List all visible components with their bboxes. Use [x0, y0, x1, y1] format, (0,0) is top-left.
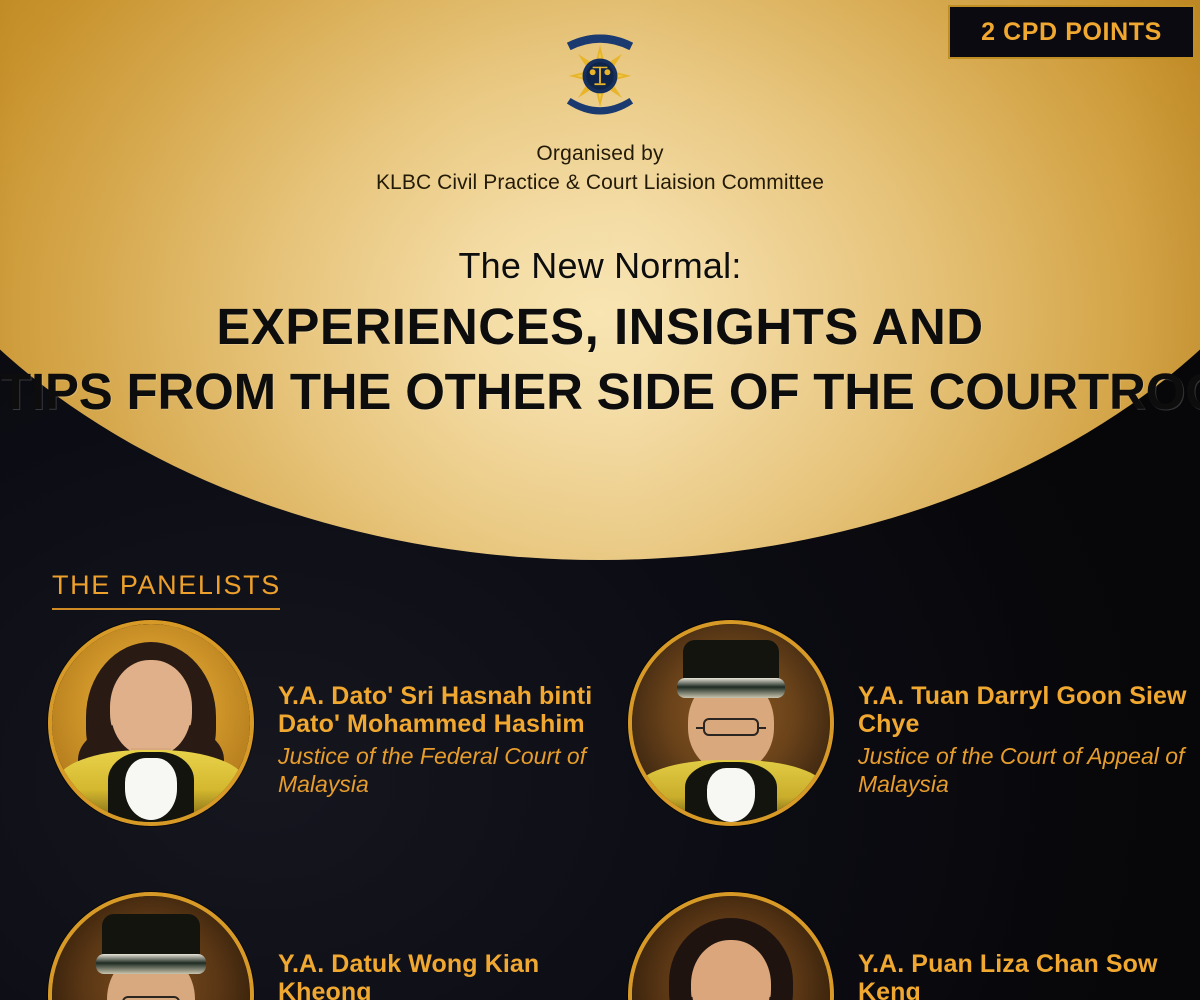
panelist-card-4: Y.A. Puan Liza Chan Sow Keng Judicial Co…: [628, 892, 1200, 1000]
portrait-figure: [632, 624, 830, 822]
portrait-figure: [632, 896, 830, 1000]
panelist-name: Y.A. Dato' Sri Hasnah binti Dato' Mohamm…: [278, 682, 638, 739]
panelist-card-2: Y.A. Tuan Darryl Goon Siew Chye Justice …: [628, 620, 1200, 826]
panelists-grid: Y.A. Dato' Sri Hasnah binti Dato' Mohamm…: [0, 620, 1200, 1000]
panelist-name: Y.A. Puan Liza Chan Sow Keng: [858, 950, 1200, 1000]
panelist-role: Justice of the Federal Court of Malaysia: [278, 742, 638, 798]
title-line-1: EXPERIENCES, INSIGHTS AND: [0, 297, 1200, 356]
panelist-role: Justice of the Court of Appeal of Malays…: [858, 742, 1200, 798]
panelists-heading: THE PANELISTS: [52, 570, 281, 610]
cpd-points-label: 2 CPD POINTS: [981, 18, 1162, 47]
portrait-figure: [52, 896, 250, 1000]
panelist-name: Y.A. Tuan Darryl Goon Siew Chye: [858, 682, 1200, 739]
panelist-text: Y.A. Dato' Sri Hasnah binti Dato' Mohamm…: [278, 620, 638, 798]
event-title-block: The New Normal: EXPERIENCES, INSIGHTS AN…: [0, 245, 1200, 421]
avatar: [48, 620, 254, 826]
avatar: [628, 620, 834, 826]
panelists-heading-label: THE PANELISTS: [52, 570, 281, 606]
panelist-text: Y.A. Tuan Darryl Goon Siew Chye Justice …: [858, 620, 1200, 798]
panelist-card-3: Y.A. Datuk Wong Kian Kheong Justice of t…: [48, 892, 638, 1000]
panelist-name: Y.A. Datuk Wong Kian Kheong: [278, 950, 638, 1000]
portrait-figure: [52, 624, 250, 822]
organised-by-label: Organised by: [0, 142, 1200, 166]
panelist-row-1: Y.A. Dato' Sri Hasnah binti Dato' Mohamm…: [0, 620, 1200, 892]
panelist-card-1: Y.A. Dato' Sri Hasnah binti Dato' Mohamm…: [48, 620, 638, 826]
panelist-text: Y.A. Puan Liza Chan Sow Keng Judicial Co…: [858, 892, 1200, 1000]
avatar: [48, 892, 254, 1000]
organiser-block: Organised by KLBC Civil Practice & Court…: [0, 142, 1200, 195]
title-subtitle: The New Normal:: [0, 245, 1200, 287]
organiser-name: KLBC Civil Practice & Court Liaision Com…: [0, 171, 1200, 195]
klbc-bar-emblem-icon: [554, 24, 646, 126]
panelist-row-2: Y.A. Datuk Wong Kian Kheong Justice of t…: [0, 892, 1200, 1000]
poster-root: 2 CPD POINTS: [0, 0, 1200, 1000]
cpd-points-badge: 2 CPD POINTS: [948, 5, 1195, 59]
title-line-2: TIPS FROM THE OTHER SIDE OF THE COURTROO…: [0, 362, 1200, 421]
panelists-heading-underline: [52, 608, 280, 610]
avatar: [628, 892, 834, 1000]
panelist-text: Y.A. Datuk Wong Kian Kheong Justice of t…: [278, 892, 638, 1000]
